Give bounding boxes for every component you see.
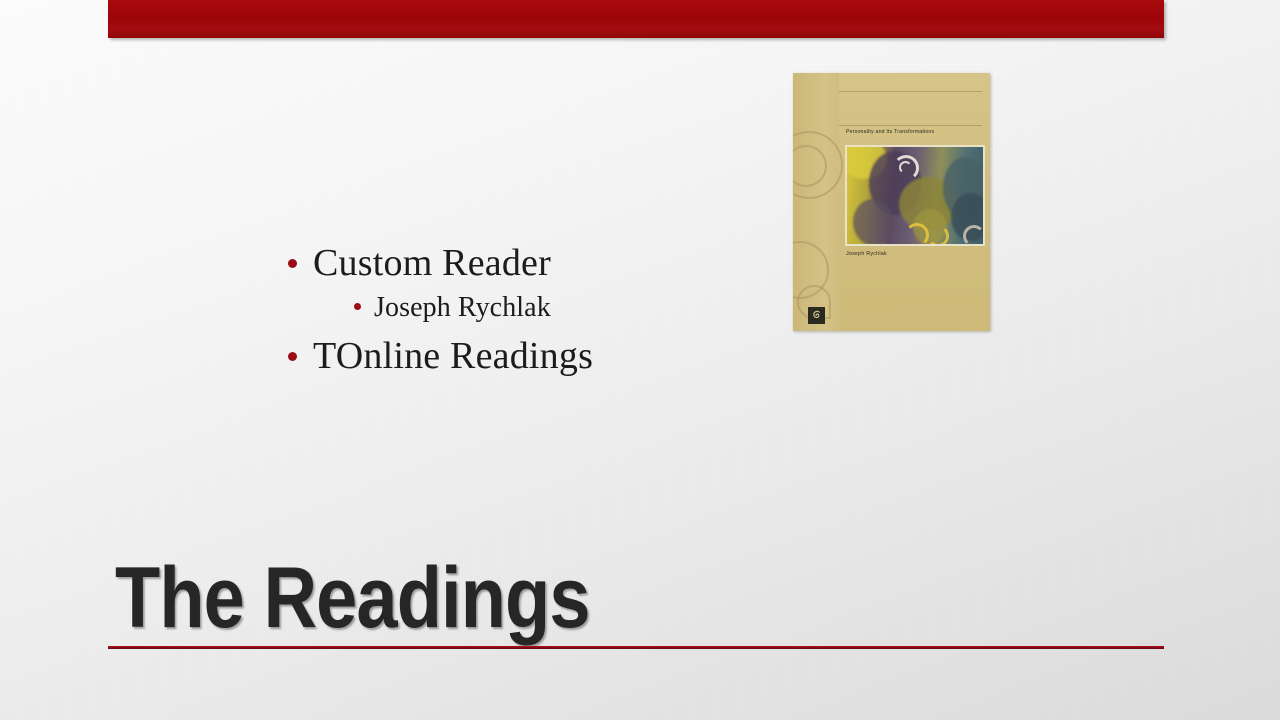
bullet-dot-icon bbox=[288, 259, 297, 268]
list-item-label: Custom Reader bbox=[313, 240, 551, 287]
cover-title-text: Personality and Its Transformations bbox=[846, 129, 984, 136]
bullet-dot-icon bbox=[354, 303, 361, 310]
list-item: Joseph Rychlak bbox=[354, 289, 758, 327]
slide-title: The Readings bbox=[115, 552, 590, 644]
book-cover-image: Personality and Its Transformations Jose… bbox=[793, 73, 990, 331]
cover-divider bbox=[839, 125, 982, 126]
list-item: TOnline Readings bbox=[288, 333, 758, 380]
list-item-label: TOnline Readings bbox=[313, 333, 593, 380]
presentation-slide: Personality and Its Transformations Jose… bbox=[0, 0, 1280, 720]
publisher-spiral-icon bbox=[808, 307, 825, 324]
cover-divider bbox=[839, 91, 982, 92]
top-accent-banner bbox=[108, 0, 1164, 38]
cover-author-text: Joseph Rychlak bbox=[846, 250, 887, 258]
list-item-label: Joseph Rychlak bbox=[374, 289, 551, 327]
cover-artwork bbox=[845, 145, 985, 246]
bullet-dot-icon bbox=[288, 352, 297, 361]
list-item: Custom Reader bbox=[288, 240, 758, 287]
title-underline-rule bbox=[108, 646, 1164, 649]
body-content-list: Custom Reader Joseph Rychlak TOnline Rea… bbox=[288, 240, 758, 382]
cover-left-band bbox=[793, 73, 839, 331]
